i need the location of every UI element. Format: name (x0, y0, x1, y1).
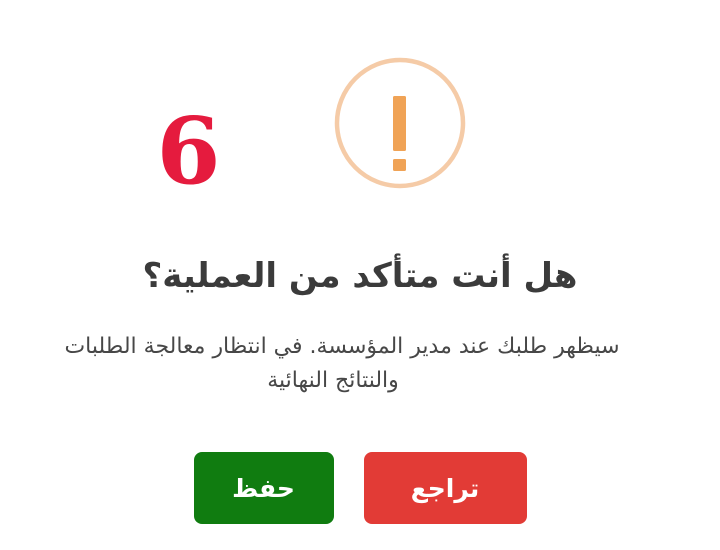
dialog-subtitle-line-2: والنتائج النهائية (0, 364, 684, 398)
confirm-dialog: 6 هل أنت متأكد من العملية؟ سيظهر طلبك عن… (0, 0, 720, 550)
dialog-heading: هل أنت متأكد من العملية؟ (0, 254, 720, 300)
save-button[interactable]: حفظ (194, 452, 334, 524)
warning-exclamation-circle-icon (333, 56, 467, 190)
counter-badge: 6 (148, 96, 228, 206)
dialog-subtitle-line-1: سيظهر طلبك عند مدير المؤسسة. في انتظار م… (0, 330, 702, 364)
dialog-icon-row: 6 (0, 0, 720, 230)
cancel-button[interactable]: تراجع (364, 452, 527, 524)
dialog-subtitle: سيظهر طلبك عند مدير المؤسسة. في انتظار م… (0, 330, 702, 398)
dialog-action-bar: تراجع حفظ (0, 452, 720, 526)
